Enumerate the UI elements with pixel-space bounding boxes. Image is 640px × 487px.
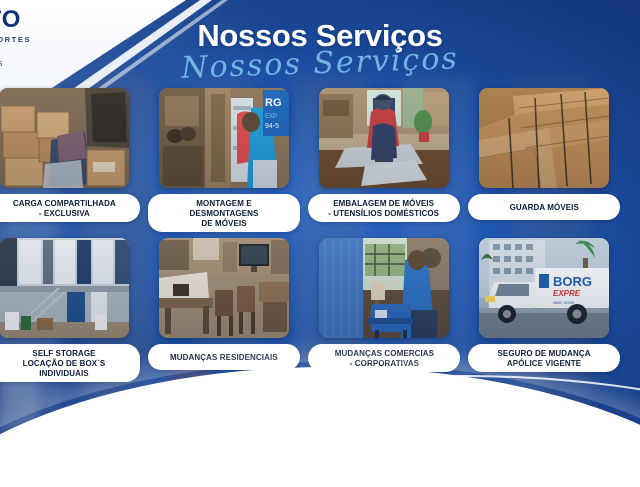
svg-text:EXPRE: EXPRE: [553, 289, 581, 298]
scene-boxes: [0, 88, 129, 188]
service-label: EMBALAGEM DE MÓVEIS - UTENSÍLIOS DOMÉSTI…: [329, 198, 440, 218]
boxes-illustration: [0, 88, 129, 188]
services-grid: CARGA COMPARTILHADA - EXCLUSIVA: [0, 88, 640, 388]
photo-self-storage-warehouse: [0, 238, 129, 338]
photo-shared-cargo-boxes: [0, 88, 129, 188]
svg-text:EXP: EXP: [265, 114, 277, 120]
scene-residential: [159, 238, 289, 338]
service-card-seguro-mudanca[interactable]: BORG EXPRE 0800 19999 SEGURO DE MUDANÇA …: [464, 238, 624, 388]
service-card-carga-compartilhada[interactable]: CARGA COMPARTILHADA - EXCLUSIVA: [0, 88, 144, 238]
truck-illustration: BORG EXPRE 0800 19999: [479, 238, 609, 338]
commercial-illustration: [319, 238, 449, 338]
svg-text:0800 19999: 0800 19999: [553, 300, 575, 305]
photo-commercial-office-move: [319, 238, 449, 338]
photo-residential-interior: [159, 238, 289, 338]
service-label: MUDANÇAS RESIDENCIAIS: [170, 352, 278, 362]
service-label: CARGA COMPARTILHADA - EXCLUSIVA: [13, 198, 116, 218]
scene-assembly: RG EXP 94-5: [159, 88, 289, 188]
service-label: MONTAGEM E DESMONTAGENS DE MÓVEIS: [162, 198, 287, 228]
page-title-block: Nossos Serviços Nossos Serviços: [0, 18, 640, 54]
scene-truck: BORG EXPRE 0800 19999: [479, 238, 609, 338]
service-label-pill: GUARDA MÓVEIS: [468, 194, 620, 220]
storage-illustration: [0, 238, 129, 338]
scene-storage: [0, 238, 129, 338]
services-row-1: CARGA COMPARTILHADA - EXCLUSIVA: [0, 88, 640, 238]
service-label-pill: MONTAGEM E DESMONTAGENS DE MÓVEIS: [148, 194, 300, 232]
scene-packing: [319, 88, 449, 188]
scene-crates: [479, 88, 609, 188]
residential-illustration: [159, 238, 289, 338]
photo-moving-truck-insurance: BORG EXPRE 0800 19999: [479, 238, 609, 338]
svg-text:RG: RG: [265, 97, 282, 109]
crates-illustration: [479, 88, 609, 188]
service-label-pill: SEGURO DE MUDANÇA APÓLICE VIGENTE: [468, 344, 620, 372]
svg-text:94-5: 94-5: [265, 123, 279, 130]
service-card-embalagem[interactable]: EMBALAGEM DE MÓVEIS - UTENSÍLIOS DOMÉSTI…: [304, 88, 464, 238]
assembly-illustration: RG EXP 94-5: [159, 88, 289, 188]
service-label-pill: SELF STORAGE LOCAÇÃO DE BOX`S INDIVIDUAI…: [0, 344, 140, 382]
svg-text:BORG: BORG: [553, 274, 592, 289]
packing-illustration: [319, 88, 449, 188]
service-label-pill: EMBALAGEM DE MÓVEIS - UTENSÍLIOS DOMÉSTI…: [308, 194, 460, 222]
service-label: SEGURO DE MUDANÇA APÓLICE VIGENTE: [497, 348, 590, 368]
service-label: SELF STORAGE LOCAÇÃO DE BOX`S INDIVIDUAI…: [2, 348, 127, 378]
service-card-montagem-desmontagem[interactable]: RG EXP 94-5 MONTAGEM E DESMONTAGENS DE M…: [144, 88, 304, 238]
service-card-guarda-moveis[interactable]: GUARDA MÓVEIS: [464, 88, 624, 238]
service-card-self-storage[interactable]: SELF STORAGE LOCAÇÃO DE BOX`S INDIVIDUAI…: [0, 238, 144, 388]
photo-packing-utensils: [319, 88, 449, 188]
photo-furniture-storage-crates: [479, 88, 609, 188]
service-label-pill: CARGA COMPARTILHADA - EXCLUSIVA: [0, 194, 140, 222]
photo-furniture-assembly: RG EXP 94-5: [159, 88, 289, 188]
scene-commercial: [319, 238, 449, 338]
service-label: GUARDA MÓVEIS: [509, 202, 578, 212]
